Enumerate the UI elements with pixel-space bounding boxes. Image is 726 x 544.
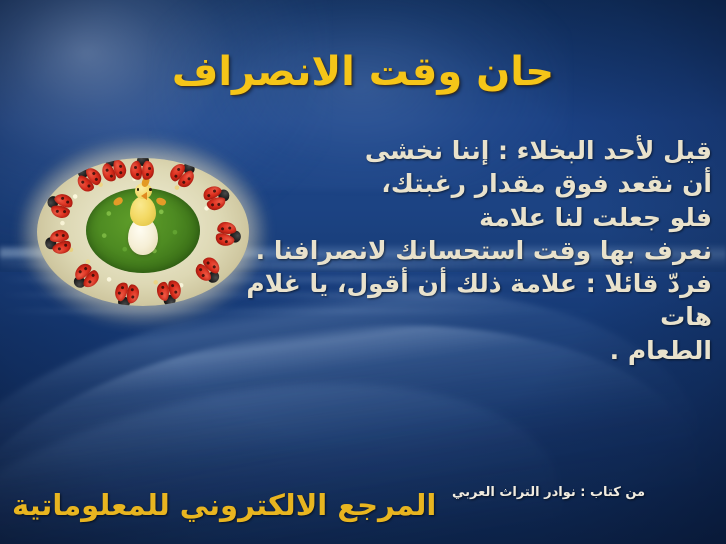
chick-eye-icon (137, 188, 140, 191)
source-attribution: من كتاب : نوادر التراث العربي (452, 485, 645, 500)
slide-title: حان وقت الانصراف (0, 49, 726, 95)
food-platter-image (33, 152, 253, 312)
chick-beak-icon (141, 192, 147, 200)
body-line: فردّ قائلا : علامة ذلك أن أقول، يا غلام … (242, 267, 712, 334)
chick-eye-icon (149, 188, 152, 191)
body-text: قيل لأحد البخلاء : إننا نخشى أن نقعد فوق… (242, 134, 712, 367)
body-line: أن نقعد فوق مقدار رغبتك، (242, 167, 712, 200)
body-line: قيل لأحد البخلاء : إننا نخشى (242, 134, 712, 167)
body-line: فلو جعلت لنا علامة (242, 201, 712, 234)
tomato-ladybug-icon (130, 159, 156, 181)
tomato-ladybug-icon (111, 279, 141, 306)
slide: حان وقت الانصراف (0, 0, 726, 544)
body-line: نعرف بها وقت استحسانك لانصرافنا . (242, 234, 712, 267)
platter-dish (37, 158, 249, 306)
body-line: الطعام . (242, 334, 712, 367)
chick-body-icon (130, 196, 156, 226)
tomato-ladybug-icon (213, 220, 239, 249)
brand-label: المرجع الالكتروني للمعلوماتية (12, 488, 436, 522)
